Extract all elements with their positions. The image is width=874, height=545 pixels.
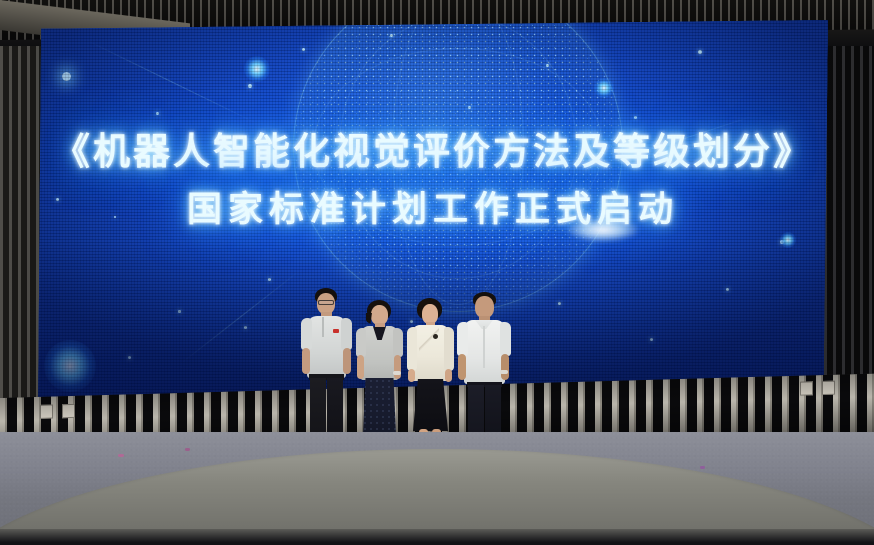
screen-star-dot <box>302 48 305 51</box>
screen-star-dot <box>726 288 729 291</box>
globe-latitude-arc <box>313 48 603 246</box>
person-3-head <box>422 304 438 324</box>
person-3-lapel <box>419 326 439 360</box>
stage-front-shadow <box>0 529 874 545</box>
person-1-right-forearm <box>343 348 351 374</box>
network-link-line <box>87 40 258 124</box>
person-1-right-sleeve <box>341 318 352 350</box>
screen-star-dot <box>114 216 116 218</box>
stage-floor <box>0 432 874 545</box>
person-3-left-sleeve <box>407 327 417 371</box>
person-4-left-sleeve <box>457 322 468 356</box>
person-1-red-badge <box>333 329 339 333</box>
network-link-line <box>602 115 754 165</box>
person-4-left-forearm <box>458 354 466 380</box>
person-3-left-hand <box>408 369 415 382</box>
floor-confetti <box>118 454 124 457</box>
person-4-head <box>475 296 494 318</box>
globe-particle-dots <box>293 20 623 312</box>
screen-star-dot <box>244 326 247 329</box>
network-link-line <box>182 270 301 363</box>
person-4-wristwatch <box>500 370 508 374</box>
screen-star-dot <box>178 310 181 313</box>
floor-confetti <box>185 448 190 451</box>
person-1-shirt-placket <box>322 317 324 337</box>
floor-confetti <box>700 466 705 469</box>
person-3-right-sleeve <box>444 327 454 371</box>
screen-star-dot <box>650 338 653 341</box>
screen-glow-orb <box>44 340 96 392</box>
screen-star-dot <box>468 106 471 109</box>
screen-star-dot <box>56 198 59 201</box>
screen-star-dot <box>698 50 702 54</box>
globe-meridian-arc <box>339 20 577 279</box>
person-2-right-sleeve <box>393 328 403 357</box>
screen-star-dot <box>744 152 747 155</box>
person-2-right-forearm <box>394 355 401 379</box>
person-4-shirt-placket <box>483 326 485 368</box>
screen-glow-orb <box>244 56 270 82</box>
person-2-left-sleeve <box>356 328 366 357</box>
screen-star-dot <box>546 64 549 67</box>
screen-glow-orb <box>594 78 614 98</box>
person-4-right-forearm <box>501 354 509 380</box>
screen-star-dot <box>390 34 393 37</box>
person-1-glasses <box>318 300 334 305</box>
person-3-brooch <box>433 334 438 339</box>
person-2-head <box>371 305 388 325</box>
globe-meridian-arc-2 <box>392 20 524 305</box>
stage-photo-scene: 《机器人智能化视觉评价方法及等级划分》 国家标准计划工作正式启动 <box>0 0 874 545</box>
screen-star-dot <box>128 356 131 359</box>
person-1-left-forearm <box>302 348 310 374</box>
person-3-skirt <box>413 379 448 431</box>
screen-star-dot <box>634 116 637 119</box>
person-3-right-hand <box>445 369 452 382</box>
person-2-left-forearm <box>357 355 364 379</box>
person-1-left-sleeve <box>301 318 312 350</box>
person-4-right-sleeve <box>500 322 511 356</box>
screen-star-dot <box>248 84 252 88</box>
particle-globe-graphic <box>293 20 623 312</box>
screen-star-dot <box>558 302 561 305</box>
screen-glow-orb <box>780 232 796 248</box>
screen-star-dot <box>156 112 159 115</box>
screen-star-dot <box>268 278 271 281</box>
screen-star-dot <box>62 72 71 81</box>
screen-star-dot <box>604 206 607 209</box>
person-2-wristwatch <box>393 371 401 375</box>
